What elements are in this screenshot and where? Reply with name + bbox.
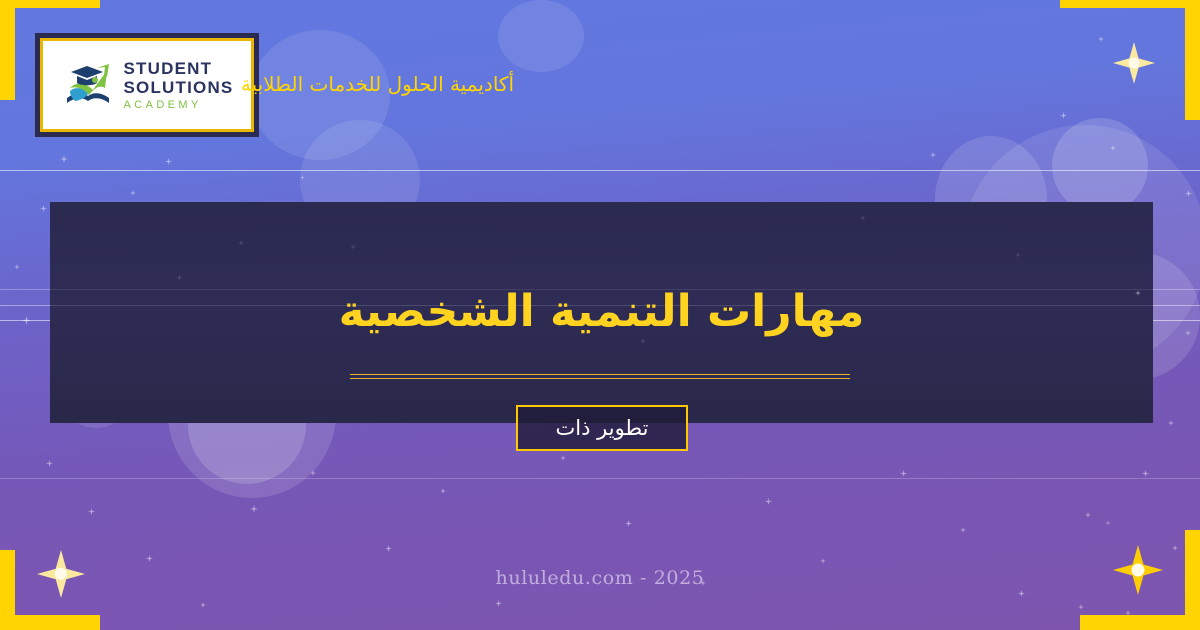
sparkle-dot-icon xyxy=(960,527,966,533)
graduation-cap-book-arrow-logo-icon xyxy=(61,58,115,112)
sparkle-dot-icon xyxy=(14,264,20,270)
sparkle-dot-icon xyxy=(165,158,172,165)
academy-logo: STUDENT SOLUTIONS ACADEMY xyxy=(40,38,254,132)
logo-wordmark: STUDENT SOLUTIONS ACADEMY xyxy=(124,60,234,111)
sparkle-dot-icon xyxy=(1185,330,1191,336)
light-streak xyxy=(0,170,1200,171)
slide-canvas: STUDENT SOLUTIONS ACADEMY أكاديمية الحلو… xyxy=(0,0,1200,630)
sparkle-dot-icon xyxy=(130,190,136,196)
corner-bracket-top-right xyxy=(1060,0,1200,8)
sparkle-dot-icon xyxy=(1018,590,1025,597)
sparkle-dot-icon xyxy=(930,152,936,158)
sparkle-dot-icon xyxy=(300,175,305,180)
footer-credit: hululedu.com - 2025 xyxy=(0,567,1200,589)
sparkle-dot-icon xyxy=(1105,520,1111,526)
sparkle-dot-icon xyxy=(765,498,772,505)
corner-bracket-bottom-left xyxy=(0,550,15,630)
sparkle-dot-icon xyxy=(385,545,392,552)
corner-bracket-bottom-left xyxy=(0,615,100,630)
title-divider xyxy=(350,374,850,379)
slide-title: مهارات التنمية الشخصية xyxy=(50,286,1153,337)
sparkle-dot-icon xyxy=(560,455,566,461)
four-point-star-icon xyxy=(1113,42,1155,84)
logo-line-1: STUDENT xyxy=(124,60,234,77)
sparkle-dot-icon xyxy=(200,602,206,608)
sparkle-dot-icon xyxy=(1172,545,1178,551)
divider-line xyxy=(350,378,850,379)
divider-line xyxy=(350,374,850,375)
sparkle-dot-icon xyxy=(1078,604,1084,610)
bubble-decoration xyxy=(498,0,584,72)
sparkle-dot-icon xyxy=(625,520,632,527)
sparkle-dot-icon xyxy=(250,505,258,513)
sparkle-dot-icon xyxy=(40,205,47,212)
sparkle-dot-icon xyxy=(1142,470,1149,477)
sparkle-dot-icon xyxy=(900,470,907,477)
corner-bracket-top-left xyxy=(0,0,100,8)
sparkle-dot-icon xyxy=(820,558,826,564)
logo-line-3: ACADEMY xyxy=(124,100,234,111)
corner-bracket-bottom-right xyxy=(1080,615,1200,630)
sparkle-dot-icon xyxy=(146,555,153,562)
sparkle-dot-icon xyxy=(1185,190,1192,197)
sparkle-dot-icon xyxy=(1098,36,1104,42)
logo-line-2: SOLUTIONS xyxy=(124,79,234,96)
sparkle-dot-icon xyxy=(440,488,446,494)
bubble-decoration xyxy=(1052,118,1148,214)
sparkle-dot-icon xyxy=(495,600,502,607)
star-core xyxy=(1129,58,1140,69)
corner-bracket-top-right xyxy=(1185,0,1200,120)
sparkle-dot-icon xyxy=(60,155,68,163)
sparkle-dot-icon xyxy=(1085,512,1091,518)
sparkle-dot-icon xyxy=(310,470,316,476)
category-badge: تطوير ذات xyxy=(516,405,688,451)
sparkle-dot-icon xyxy=(1060,112,1067,119)
sparkle-dot-icon xyxy=(1168,420,1174,426)
light-streak xyxy=(0,478,1200,479)
sparkle-dot-icon xyxy=(22,316,31,325)
sparkle-dot-icon xyxy=(46,460,53,467)
academy-arabic-name: أكاديمية الحلول للخدمات الطلابية xyxy=(258,72,514,96)
corner-bracket-top-left xyxy=(0,0,15,100)
sparkle-dot-icon xyxy=(88,508,95,515)
sparkle-dot-icon xyxy=(1110,145,1116,151)
